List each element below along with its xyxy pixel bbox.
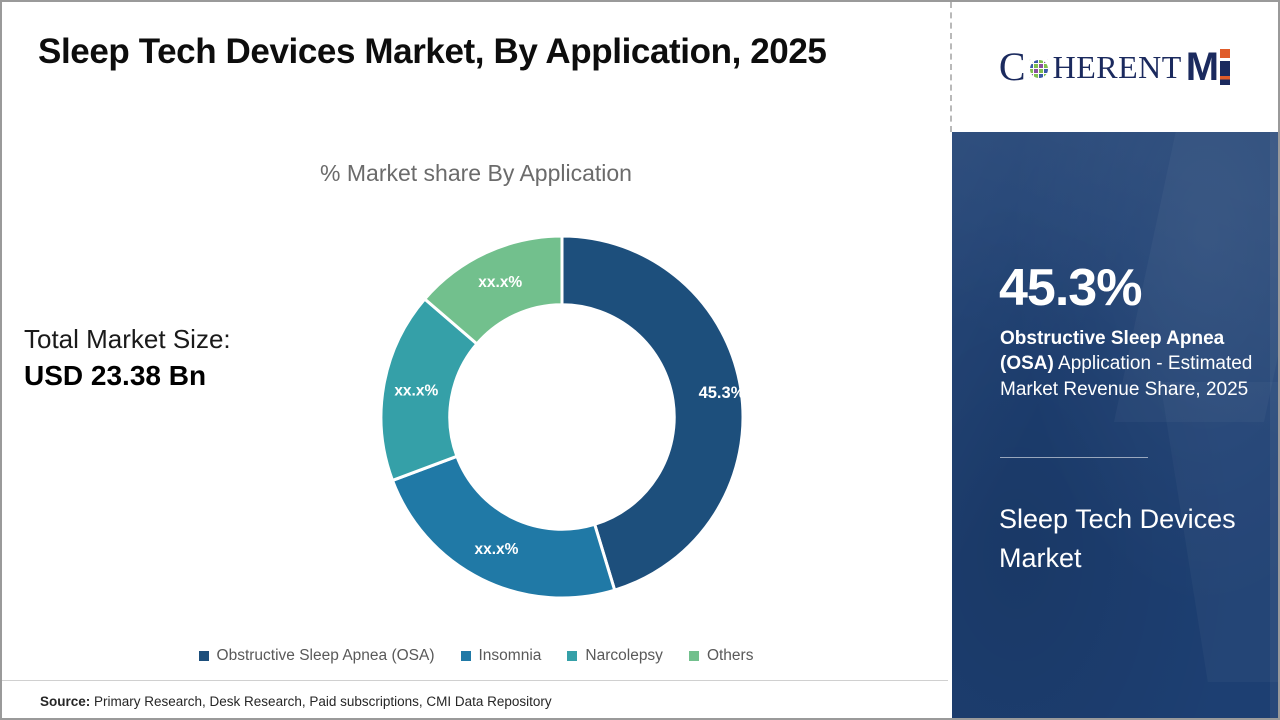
logo-letter-c: C [999, 47, 1026, 87]
donut-slice-label: 45.3% [699, 384, 745, 402]
chart-legend: Obstructive Sleep Apnea (OSA)InsomniaNar… [2, 647, 950, 665]
legend-item[interactable]: Others [689, 647, 754, 665]
donut-slice [392, 456, 614, 598]
chart-subtitle: % Market share By Application [2, 160, 950, 187]
legend-label: Obstructive Sleep Apnea (OSA) [217, 647, 435, 665]
source-label: Source: [40, 694, 90, 709]
legend-label: Narcolepsy [585, 647, 663, 665]
market-name: Sleep Tech Devices Market [999, 500, 1269, 578]
stat-number: 45.3% [999, 262, 1141, 314]
total-market-size-label: Total Market Size: [24, 324, 324, 356]
highlight-panel: 45.3% Obstructive Sleep Apnea (OSA) Appl… [952, 132, 1278, 718]
logo-letters-herent: HERENT [1053, 51, 1182, 83]
source-line: Source: Primary Research, Desk Research,… [40, 694, 552, 709]
logo-lockup: C [999, 47, 1231, 87]
right-panel: C [952, 2, 1278, 718]
stat-divider [1000, 457, 1148, 458]
legend-label: Insomnia [479, 647, 542, 665]
legend-swatch-icon [461, 651, 471, 661]
source-text: Primary Research, Desk Research, Paid su… [90, 694, 551, 709]
legend-swatch-icon [567, 651, 577, 661]
stat-description: Obstructive Sleep Apnea (OSA) Applicatio… [1000, 326, 1262, 402]
legend-item[interactable]: Narcolepsy [567, 647, 663, 665]
logo-letter-m: M [1186, 47, 1219, 87]
legend-swatch-icon [199, 651, 209, 661]
donut-chart-svg: 45.3%xx.x%xx.x%xx.x% [379, 234, 745, 600]
footer-divider [2, 680, 948, 681]
total-market-size-value: USD 23.38 Bn [24, 359, 324, 393]
donut-chart: 45.3%xx.x%xx.x%xx.x% [379, 234, 745, 600]
logo-letter-i [1219, 47, 1231, 87]
globe-dotted-icon [1026, 56, 1052, 82]
donut-slice-label: xx.x% [394, 383, 438, 400]
legend-item[interactable]: Insomnia [461, 647, 542, 665]
donut-slice-label: xx.x% [475, 541, 519, 558]
legend-label: Others [707, 647, 754, 665]
panel-right-edge [1270, 132, 1278, 718]
infographic-root: Sleep Tech Devices Market, By Applicatio… [0, 0, 1280, 720]
page-title: Sleep Tech Devices Market, By Applicatio… [38, 32, 918, 72]
legend-item[interactable]: Obstructive Sleep Apnea (OSA) [199, 647, 435, 665]
total-market-size-block: Total Market Size: USD 23.38 Bn [24, 324, 324, 393]
brand-logo[interactable]: C [952, 2, 1278, 132]
donut-slice-label: xx.x% [478, 274, 522, 291]
legend-swatch-icon [689, 651, 699, 661]
donut-slice-group [381, 236, 743, 598]
chart-area: Sleep Tech Devices Market, By Applicatio… [2, 2, 950, 718]
